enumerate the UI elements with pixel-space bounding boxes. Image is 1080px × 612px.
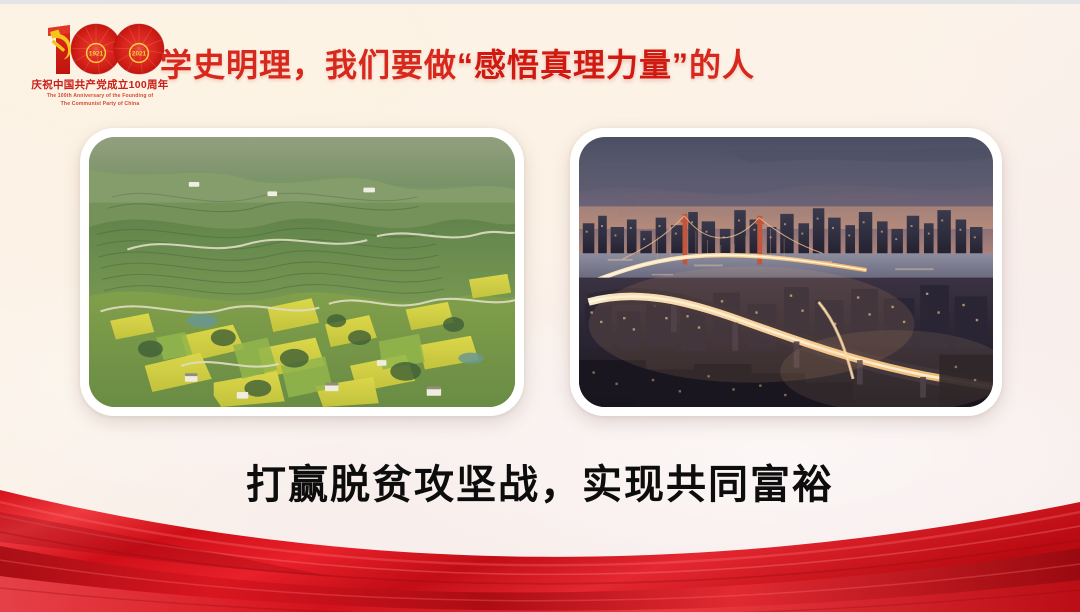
photo-city-bridge-night-image <box>579 137 993 407</box>
title-quoted-phrase: “感悟真理力量” <box>457 47 689 83</box>
logo-chinese-text: 庆祝中国共产党成立100周年 <box>30 80 170 92</box>
logo-english-line-2: The Communist Party of China <box>30 101 170 109</box>
photo-city-bridge-night[interactable] <box>570 128 1002 416</box>
photo-terraced-farmland[interactable] <box>80 128 524 416</box>
year-2021-label: 2021 <box>132 51 147 58</box>
photo-terraced-farmland-image <box>89 137 515 407</box>
slide-caption: 打赢脱贫攻坚战，实现共同富裕 <box>0 452 1080 510</box>
hundred-emblem-icon: 1921 2021 <box>34 22 166 78</box>
logo-english-line-1: The 100th Anniversary of the Founding of <box>30 93 170 101</box>
slide-title: 学史明理，我们要做“感悟真理力量”的人 <box>160 40 755 86</box>
title-prefix: 学史明理，我们要做 <box>160 47 457 83</box>
title-suffix: 的人 <box>689 47 755 83</box>
slide-canvas: 1921 2021 <box>0 0 1080 612</box>
year-1921-label: 1921 <box>89 51 104 58</box>
cpc-anniversary-logo: 1921 2021 <box>30 22 170 108</box>
top-edge-bar <box>0 0 1080 4</box>
